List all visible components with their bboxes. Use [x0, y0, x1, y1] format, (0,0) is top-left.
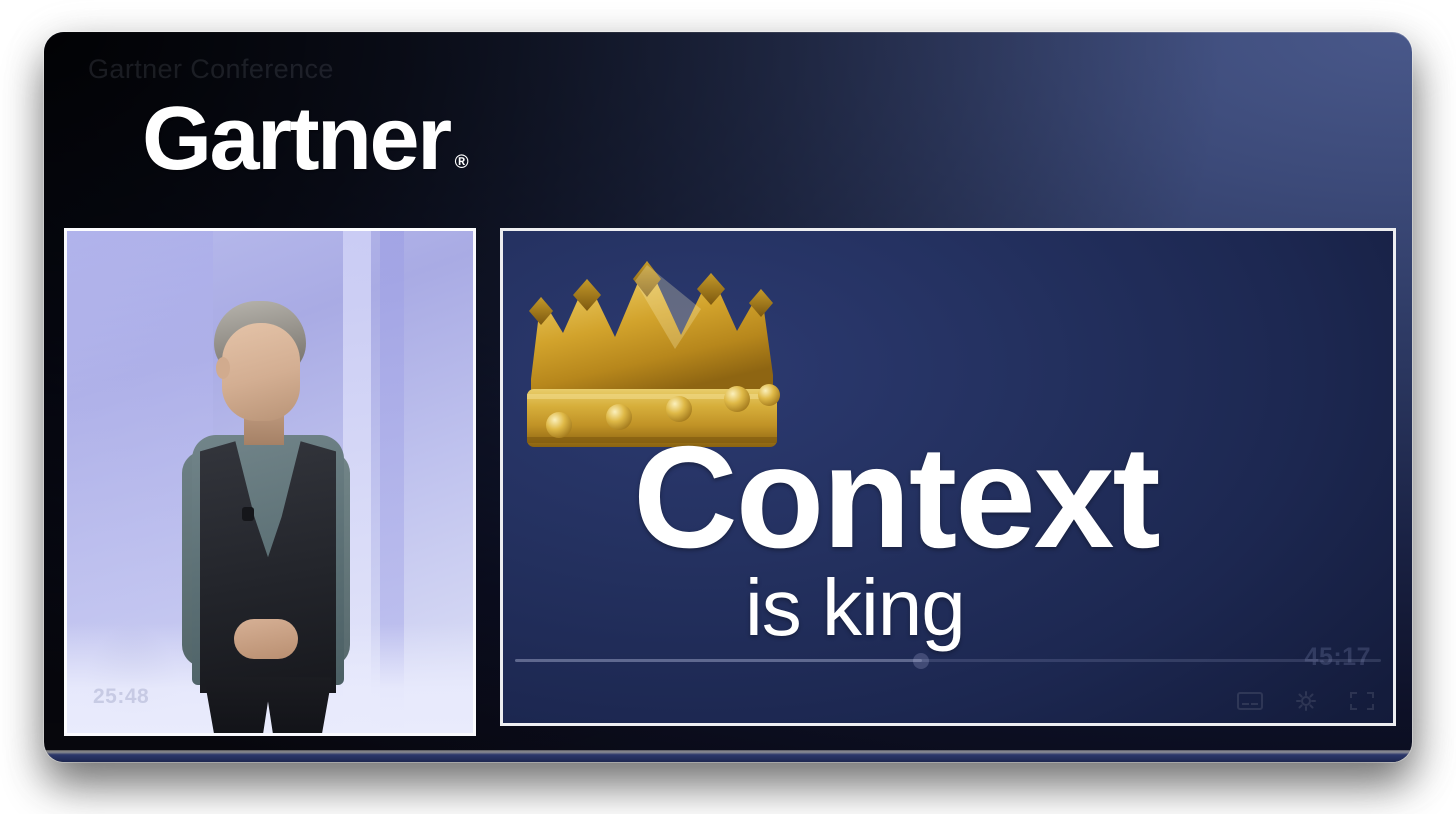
speaker-hands: [234, 619, 298, 659]
player-bottom-bezel: [44, 750, 1412, 762]
control-icon-group: [1237, 691, 1375, 711]
speaker-figure: [130, 301, 430, 733]
slide-subheadline: is king: [745, 568, 1393, 648]
slide-headline-block: Context is king: [633, 431, 1393, 648]
gartner-wordmark: Gartner: [142, 98, 450, 181]
registered-trademark-mark: ®: [455, 152, 469, 174]
slide-headline: Context: [633, 431, 1393, 564]
subtitles-icon[interactable]: [1237, 691, 1263, 711]
progress-fill: [515, 659, 922, 662]
slide-content: Context is king 45:17: [503, 231, 1393, 723]
elapsed-time-label: 25:48: [93, 685, 149, 709]
presentation-slide[interactable]: Context is king 45:17: [500, 228, 1396, 726]
speaker-face: [222, 323, 300, 421]
fullscreen-icon[interactable]: [1349, 691, 1375, 711]
screen: Gartner Conference Gartner ®: [0, 0, 1456, 814]
speaker-trousers: [204, 677, 332, 735]
lapel-microphone-icon: [242, 507, 254, 521]
conference-label: Gartner Conference: [88, 54, 334, 85]
gartner-logo: Gartner ®: [142, 98, 469, 181]
settings-icon[interactable]: [1293, 691, 1319, 711]
video-player-frame[interactable]: Gartner Conference Gartner ®: [44, 32, 1412, 762]
speaker-video[interactable]: 25:48: [64, 228, 476, 736]
progress-scrubber-handle[interactable]: [913, 653, 929, 669]
progress-scrubber-track[interactable]: [515, 659, 1381, 662]
